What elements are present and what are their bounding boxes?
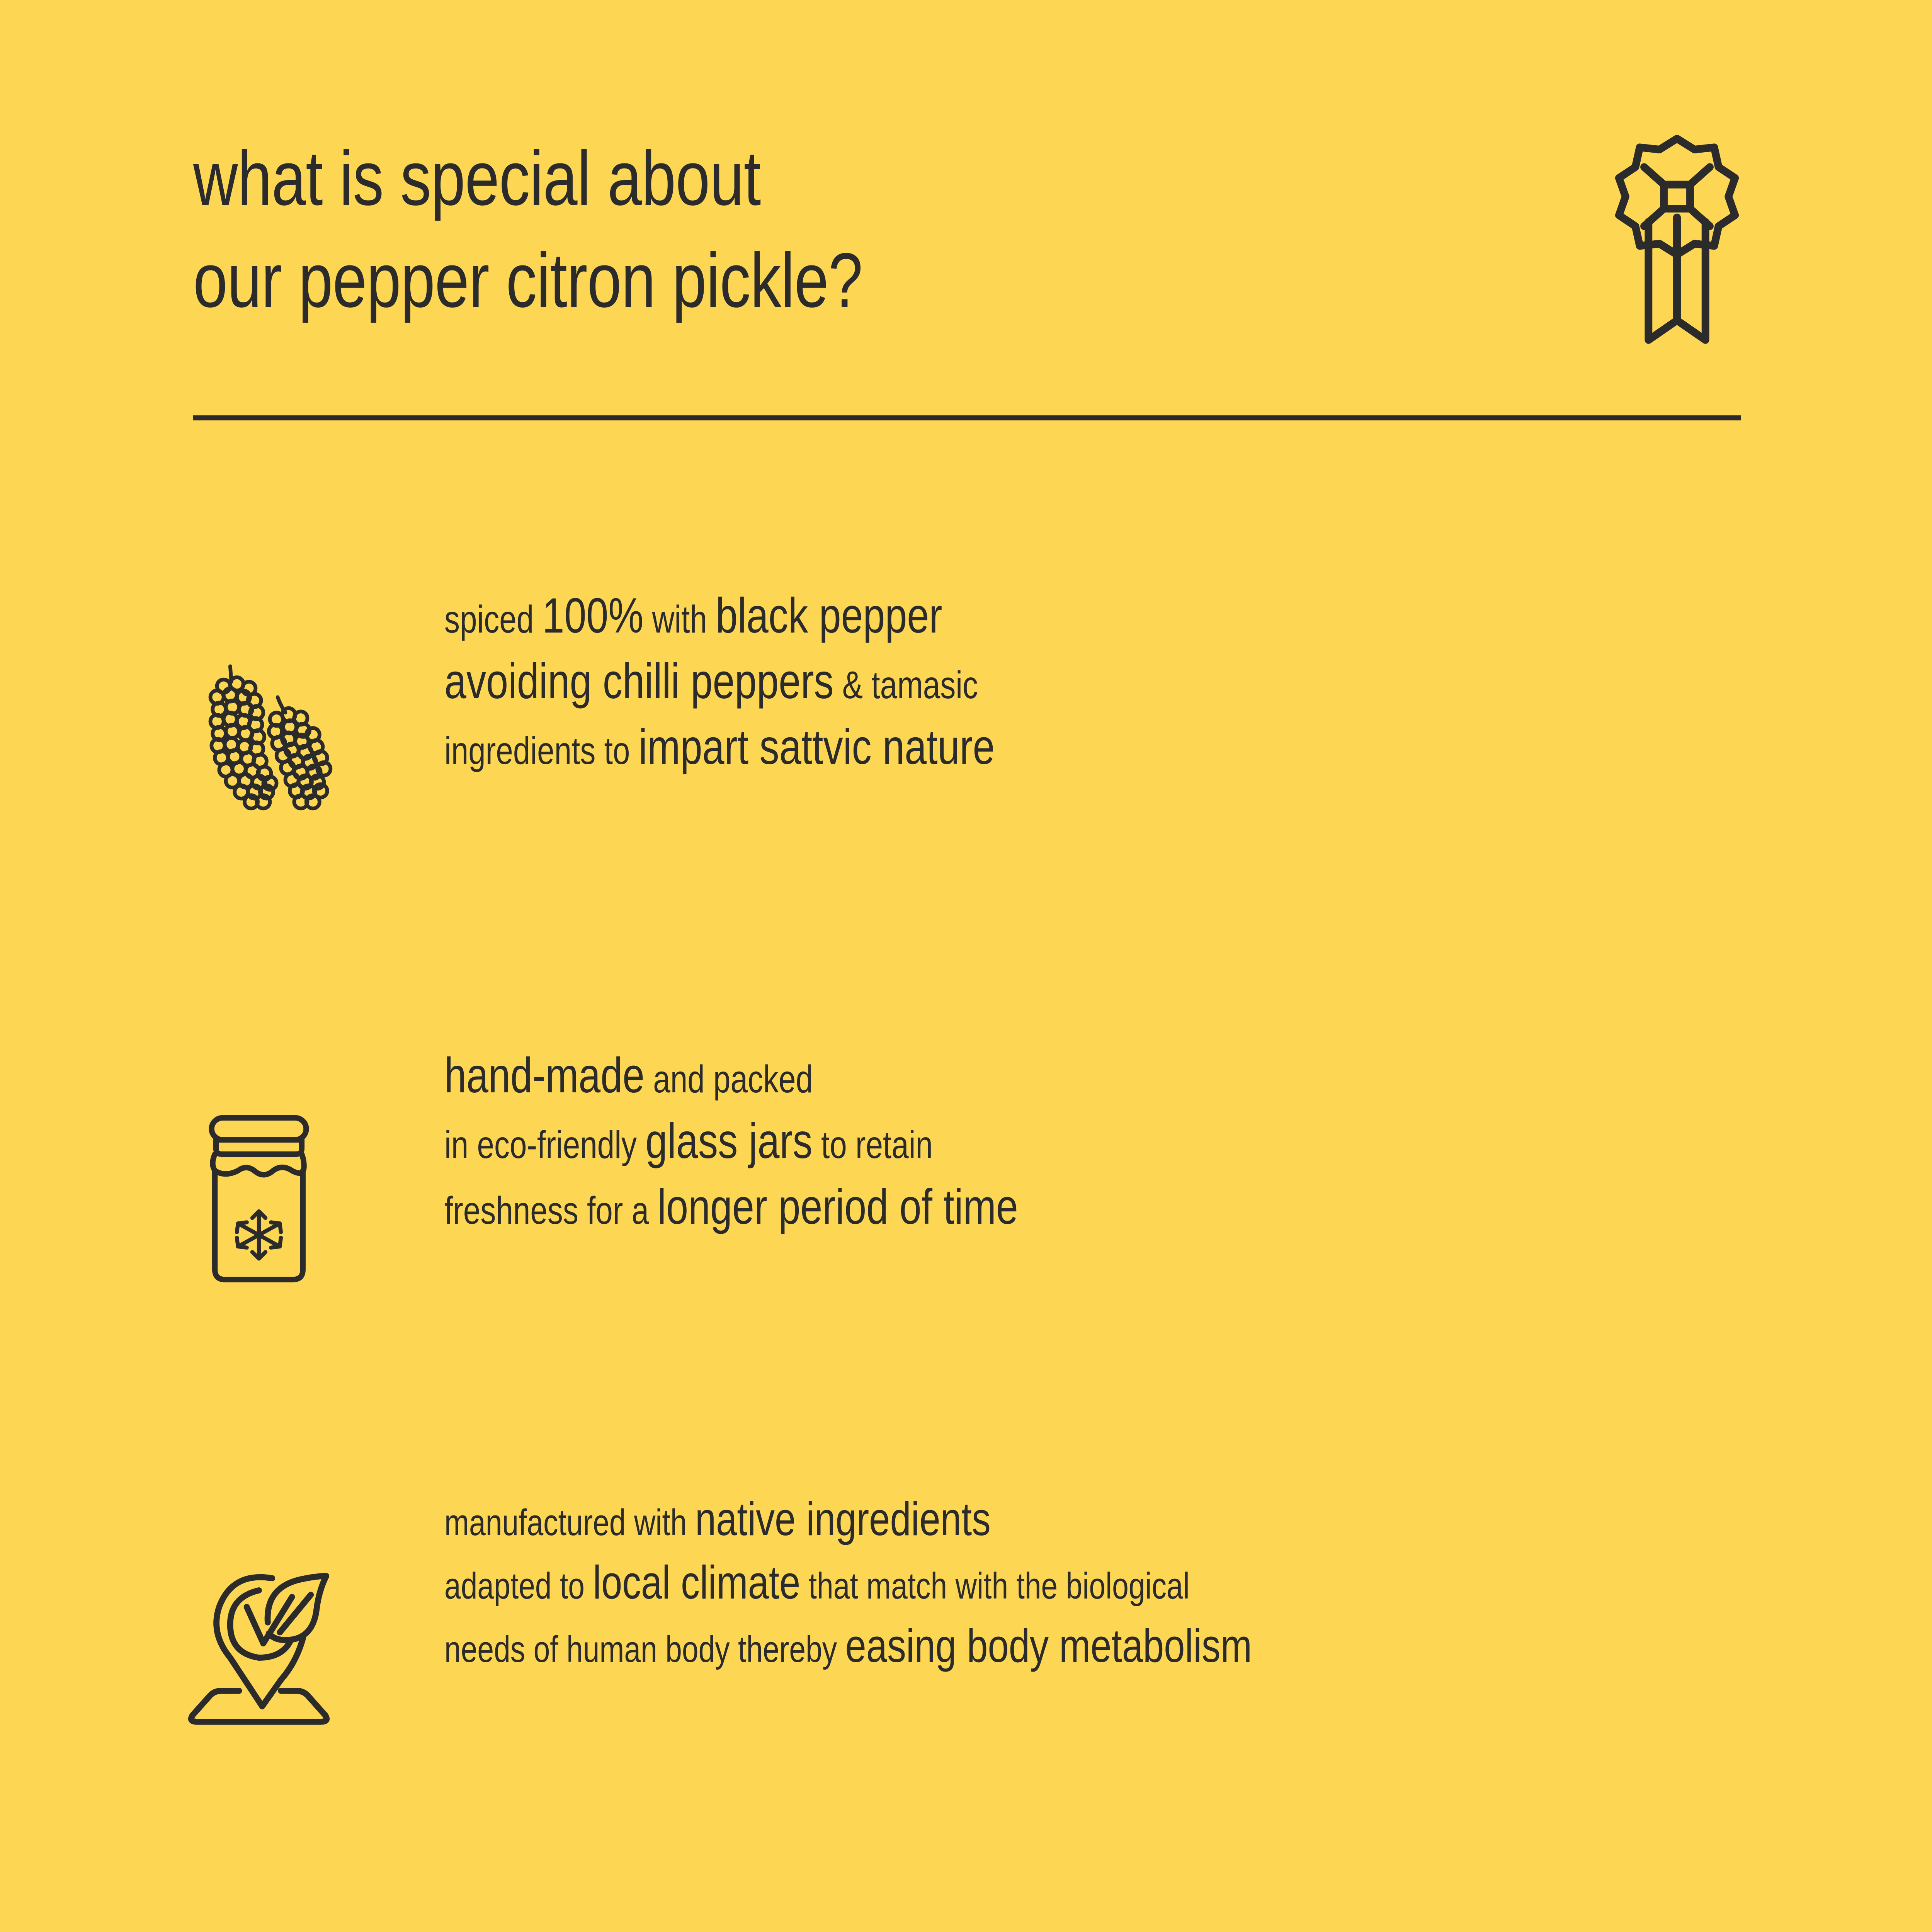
feature-line: ingredients to impart sattvic nature xyxy=(444,723,1582,772)
feature-line: spiced 100% with black pepper xyxy=(444,591,1582,641)
text-span: adapted to xyxy=(444,1565,593,1607)
text-span: local climate xyxy=(593,1556,800,1609)
text-span: to retain xyxy=(813,1123,933,1167)
text-span: in eco-friendly xyxy=(444,1123,645,1167)
text-span: with xyxy=(643,598,716,641)
feature-line: manufactured with native ingredients xyxy=(444,1495,1582,1543)
feature-row: manufactured with native ingredients ada… xyxy=(166,1495,1866,1735)
text-span: 100% xyxy=(542,588,643,643)
feature-line: hand-made and packed xyxy=(444,1051,1582,1100)
page-title: what is special about our pepper citron … xyxy=(193,128,1430,332)
feature-line: freshness for a longer period of time xyxy=(444,1182,1582,1232)
feature-line: in eco-friendly glass jars to retain xyxy=(444,1117,1582,1166)
feature-text: hand-made and packed in eco-friendly gla… xyxy=(352,1051,1866,1232)
text-span: hand-made xyxy=(444,1048,645,1103)
infographic-poster: what is special about our pepper citron … xyxy=(0,0,1932,1932)
header-divider xyxy=(193,415,1741,420)
location-pin-leaf-check-icon xyxy=(166,1495,352,1735)
feature-row: hand-made and packed in eco-friendly gla… xyxy=(166,1051,1866,1291)
text-span: spiced xyxy=(444,598,542,641)
text-span: avoiding chilli peppers xyxy=(444,654,834,709)
feature-line: avoiding chilli peppers & tamasic xyxy=(444,657,1582,706)
text-span: and packed xyxy=(645,1058,813,1101)
text-span: needs of human body thereby xyxy=(444,1629,845,1670)
text-span: manufactured with xyxy=(444,1502,695,1543)
text-span: glass jars xyxy=(645,1114,813,1169)
feature-line: needs of human body thereby easing body … xyxy=(444,1622,1582,1669)
text-span: native ingredients xyxy=(695,1493,991,1545)
text-span: impart sattvic nature xyxy=(639,719,995,775)
text-span: ingredients to xyxy=(444,729,639,772)
feature-row: spiced 100% with black pepper avoiding c… xyxy=(166,591,1866,831)
page-title-line-1: what is special about xyxy=(193,128,1430,230)
glass-jar-snowflake-icon xyxy=(166,1051,352,1291)
long-pepper-icon xyxy=(166,591,352,831)
text-span: & tamasic xyxy=(834,663,978,707)
text-span: freshness for a xyxy=(444,1189,657,1232)
text-span: that match with the biological xyxy=(800,1565,1189,1607)
feature-text: manufactured with native ingredients ada… xyxy=(352,1495,1866,1669)
award-ribbon-icon xyxy=(1611,131,1743,352)
text-span: longer period of time xyxy=(657,1179,1018,1235)
feature-line: adapted to local climate that match with… xyxy=(444,1559,1582,1606)
feature-text: spiced 100% with black pepper avoiding c… xyxy=(352,591,1866,772)
text-span: black pepper xyxy=(716,588,942,643)
text-span: easing body metabolism xyxy=(845,1619,1252,1672)
page-title-line-2: our pepper citron pickle? xyxy=(193,230,1430,332)
poster-header: what is special about our pepper citron … xyxy=(193,128,1739,437)
